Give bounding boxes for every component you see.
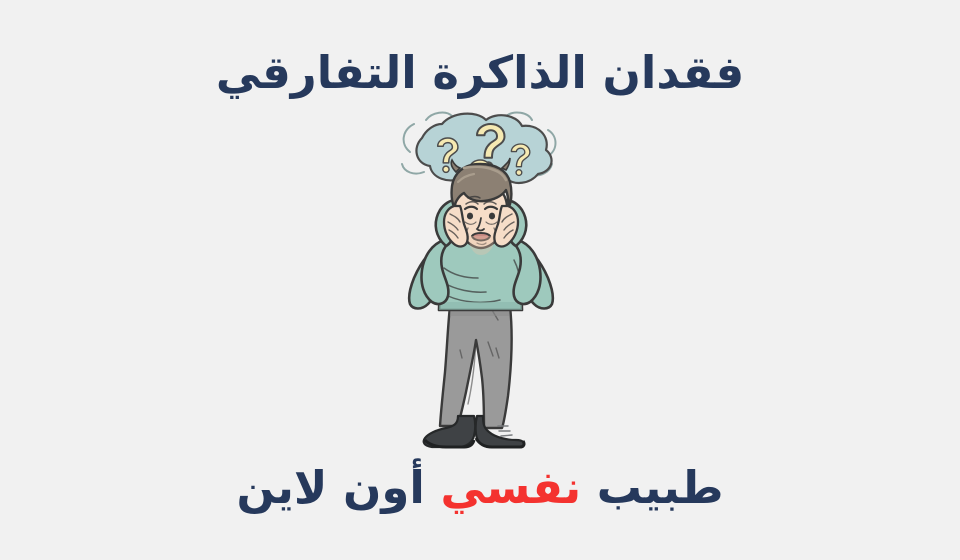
page-title-text: فقدان الذاكرة التفارقي <box>216 48 744 98</box>
eye-left <box>467 213 473 220</box>
tagline-text: طبيب نفسي أون لاين <box>236 463 723 513</box>
poster-canvas: فقدان الذاكرة التفارقي <box>0 0 960 560</box>
shoes <box>424 416 524 447</box>
legs-pants <box>440 306 512 428</box>
worried-man-svg <box>380 110 580 450</box>
eye-right <box>489 213 495 220</box>
tagline-highlight: نفسي <box>441 461 582 514</box>
page-title: فقدان الذاكرة التفارقي <box>0 48 960 98</box>
illustration-worried-man <box>380 110 580 450</box>
tagline-after: أون لاين <box>236 461 440 514</box>
tagline: طبيب نفسي أون لاين <box>0 463 960 513</box>
tagline-before: طبيب <box>581 461 723 514</box>
